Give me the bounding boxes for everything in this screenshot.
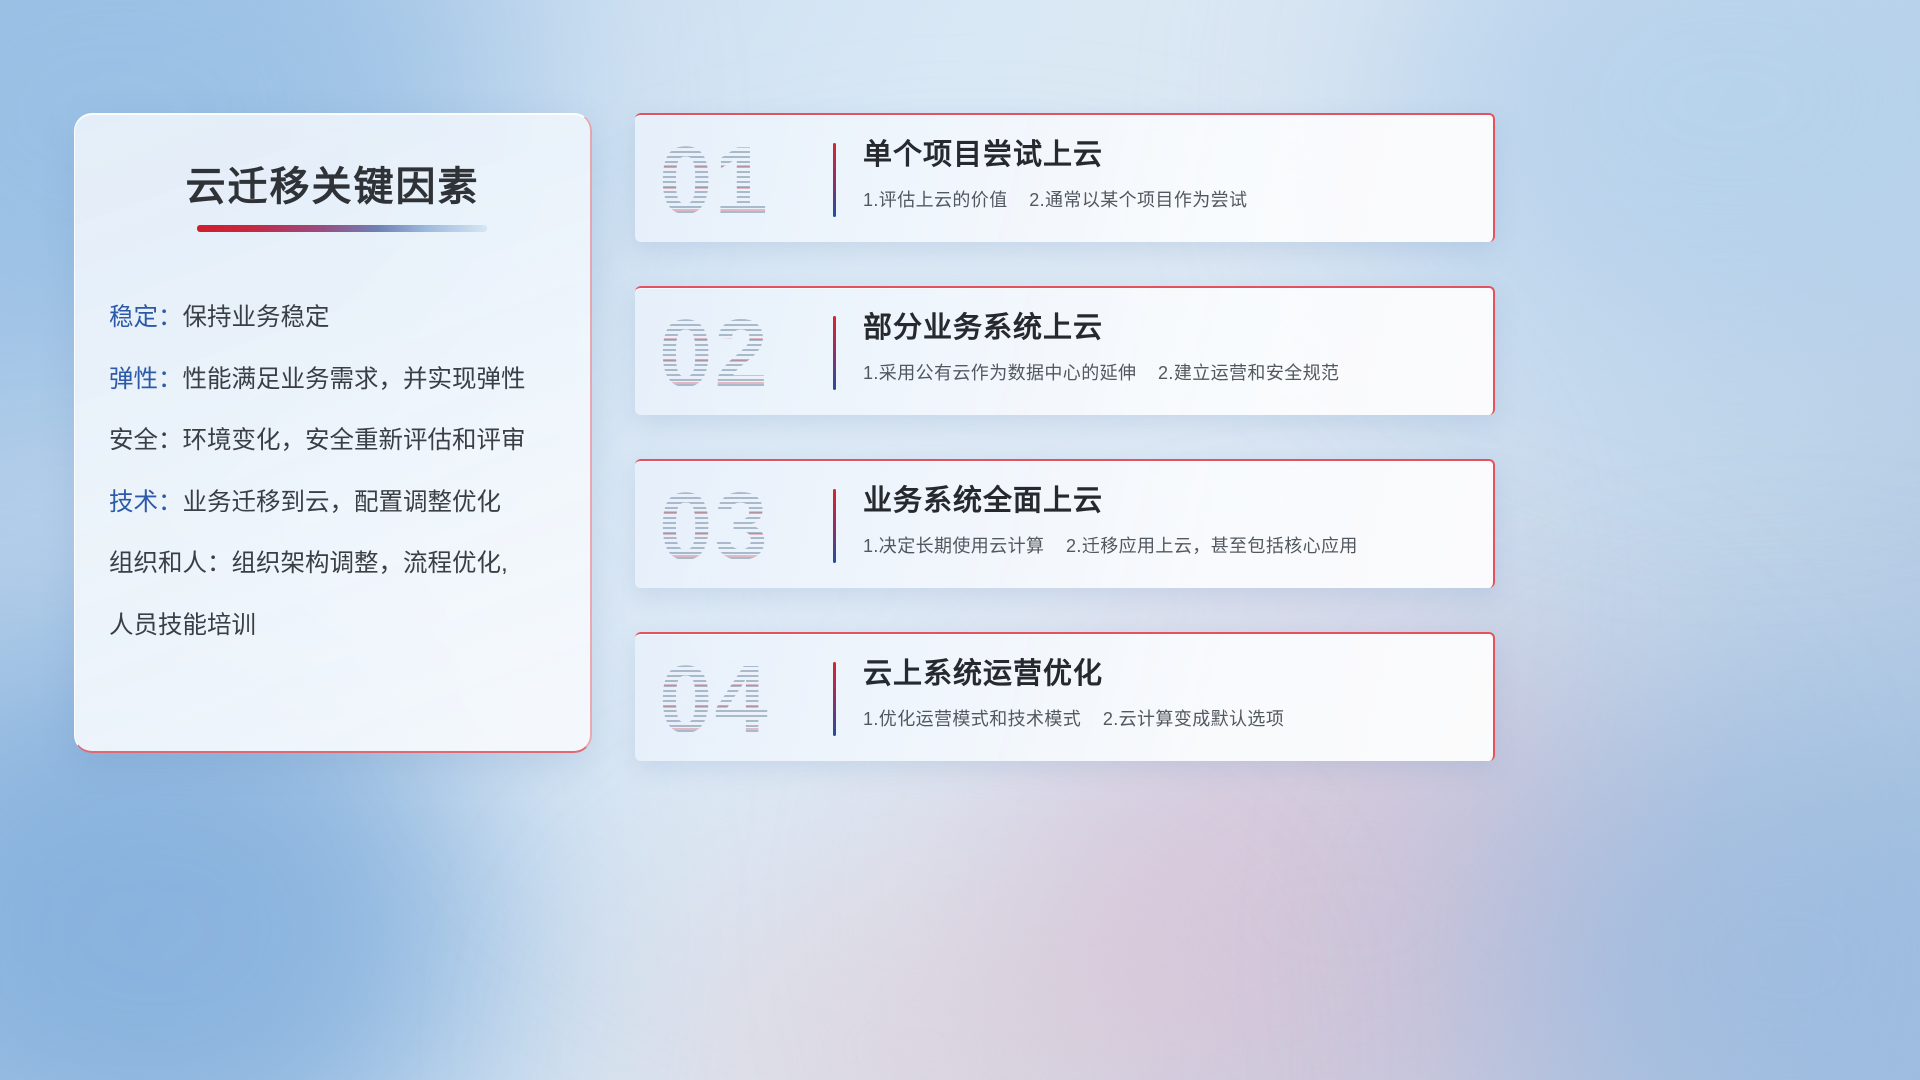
factor-row: 组织和人：组织架构调整，流程优化, <box>109 552 566 577</box>
factor-row: 人员技能培训 <box>109 614 566 639</box>
factor-label: 技术： <box>109 489 183 516</box>
factor-text: 人员技能培训 <box>109 612 256 639</box>
step-card[interactable]: 0404云上系统运营优化1.优化运营模式和技术模式 2.云计算变成默认选项 <box>635 632 1495 761</box>
factor-row: 技术：业务迁移到云，配置调整优化 <box>109 491 566 516</box>
step-number: 01 <box>659 121 839 241</box>
step-accent-bar <box>833 489 836 563</box>
factor-text: 保持业务稳定 <box>183 304 330 331</box>
step-body: 单个项目尝试上云1.评估上云的价值 2.通常以某个项目作为尝试 <box>863 137 1469 212</box>
step-card[interactable]: 0202部分业务系统上云1.采用公有云作为数据中心的延伸 2.建立运营和安全规范 <box>635 286 1495 415</box>
factor-label: 稳定： <box>109 304 183 331</box>
page-title: 云迁移关键因素 <box>75 154 590 212</box>
step-body: 业务系统全面上云1.决定长期使用云计算 2.迁移应用上云，甚至包括核心应用 <box>863 483 1469 558</box>
factor-text: 组织架构调整，流程优化, <box>232 550 508 577</box>
step-accent-bar <box>833 662 836 736</box>
step-title: 单个项目尝试上云 <box>863 137 1469 173</box>
step-subtitle: 1.优化运营模式和技术模式 2.云计算变成默认选项 <box>863 705 1469 731</box>
step-subtitle: 1.评估上云的价值 2.通常以某个项目作为尝试 <box>863 186 1469 212</box>
key-factors-panel: 云迁移关键因素 稳定：保持业务稳定弹性：性能满足业务需求，并实现弹性安全：环境变… <box>74 113 592 753</box>
maturity-steps-list: 0101单个项目尝试上云1.评估上云的价值 2.通常以某个项目作为尝试0202部… <box>635 113 1495 761</box>
factor-list: 稳定：保持业务稳定弹性：性能满足业务需求，并实现弹性安全：环境变化，安全重新评估… <box>109 306 566 638</box>
factor-label: 组织和人： <box>109 550 232 577</box>
step-title: 云上系统运营优化 <box>863 656 1469 692</box>
step-accent-bar <box>833 316 836 390</box>
step-subtitle: 1.采用公有云作为数据中心的延伸 2.建立运营和安全规范 <box>863 359 1469 385</box>
step-subtitle: 1.决定长期使用云计算 2.迁移应用上云，甚至包括核心应用 <box>863 532 1469 558</box>
step-accent-bar <box>833 143 836 217</box>
factor-text: 环境变化，安全重新评估和评审 <box>183 427 526 454</box>
slide-canvas: 云迁移关键因素 稳定：保持业务稳定弹性：性能满足业务需求，并实现弹性安全：环境变… <box>0 0 1920 1080</box>
step-number: 04 <box>659 640 839 760</box>
factor-label: 安全： <box>109 427 183 454</box>
factor-row: 稳定：保持业务稳定 <box>109 306 566 331</box>
factor-text: 业务迁移到云，配置调整优化 <box>183 489 502 516</box>
factor-row: 安全：环境变化，安全重新评估和评审 <box>109 429 566 454</box>
step-card[interactable]: 0303业务系统全面上云1.决定长期使用云计算 2.迁移应用上云，甚至包括核心应… <box>635 459 1495 588</box>
title-underline-rule <box>197 225 487 232</box>
step-body: 部分业务系统上云1.采用公有云作为数据中心的延伸 2.建立运营和安全规范 <box>863 310 1469 385</box>
step-number: 03 <box>659 467 839 587</box>
step-card[interactable]: 0101单个项目尝试上云1.评估上云的价值 2.通常以某个项目作为尝试 <box>635 113 1495 242</box>
step-number: 02 <box>659 294 839 414</box>
factor-text: 性能满足业务需求，并实现弹性 <box>183 366 526 393</box>
step-body: 云上系统运营优化1.优化运营模式和技术模式 2.云计算变成默认选项 <box>863 656 1469 731</box>
step-title: 部分业务系统上云 <box>863 310 1469 346</box>
factor-label: 弹性： <box>109 366 183 393</box>
step-title: 业务系统全面上云 <box>863 483 1469 519</box>
factor-row: 弹性：性能满足业务需求，并实现弹性 <box>109 368 566 393</box>
